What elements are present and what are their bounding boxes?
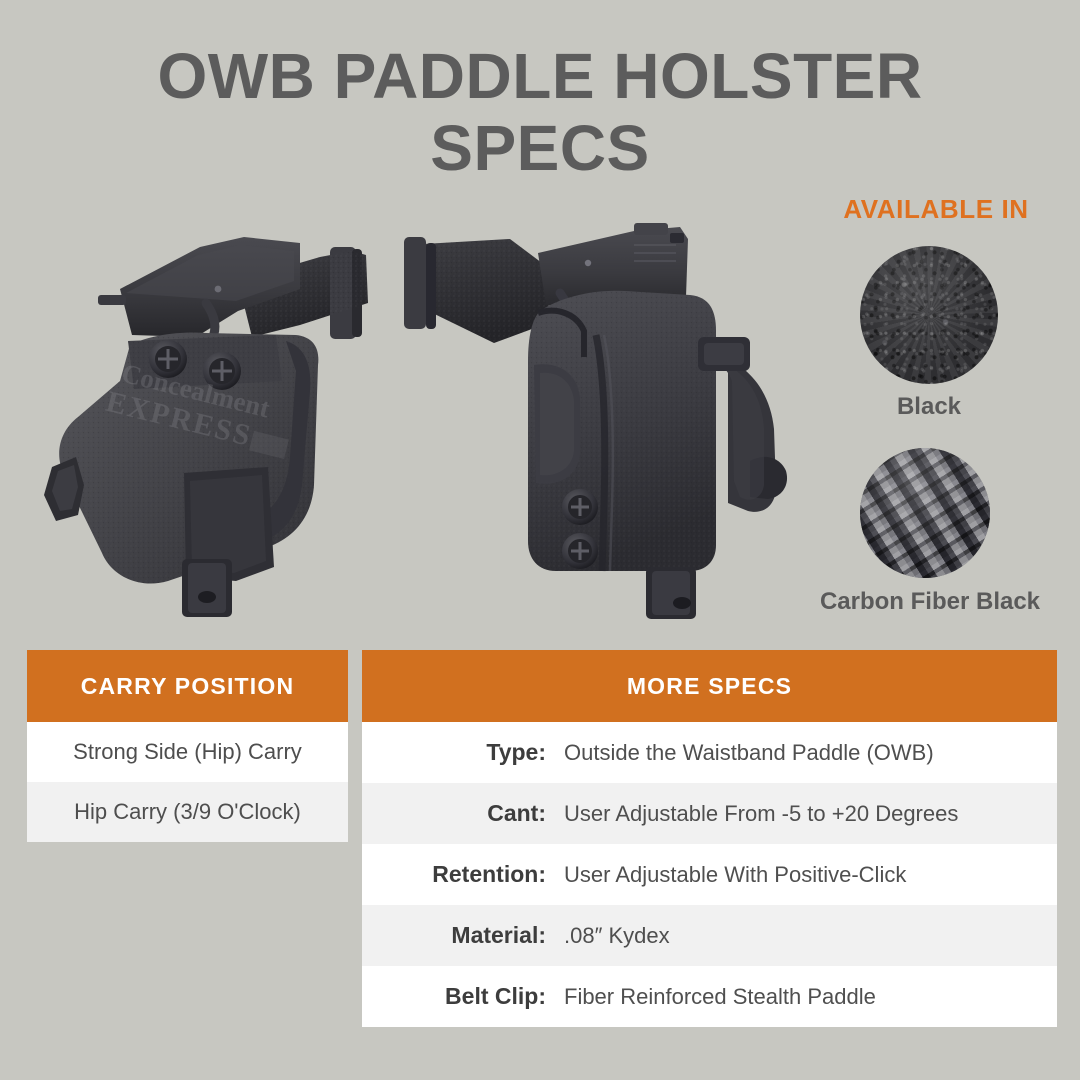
page-title-line1: OWB PADDLE HOLSTER [157, 40, 922, 112]
more-specs-table: MORE SPECS Type: Outside the Waistband P… [362, 650, 1057, 1027]
page-title: OWB PADDLE HOLSTER SPECS [0, 44, 1080, 180]
table-row: Cant: User Adjustable From -5 to +20 Deg… [362, 783, 1057, 844]
carry-position-table: CARRY POSITION Strong Side (Hip) Carry H… [27, 650, 348, 842]
table-row: Retention: User Adjustable With Positive… [362, 844, 1057, 905]
spec-key: Type: [362, 739, 554, 766]
retention-screw-4 [562, 533, 598, 569]
spec-value: .08″ Kydex [554, 923, 1057, 949]
table-row: Type: Outside the Waistband Paddle (OWB) [362, 722, 1057, 783]
available-in-heading: AVAILABLE IN [812, 194, 1060, 225]
table-row: Strong Side (Hip) Carry [27, 722, 348, 782]
spec-key: Cant: [362, 800, 554, 827]
more-specs-header: MORE SPECS [362, 650, 1057, 722]
spec-value: Outside the Waistband Paddle (OWB) [554, 740, 1057, 766]
table-row: Material: .08″ Kydex [362, 905, 1057, 966]
spec-key: Retention: [362, 861, 554, 888]
holster-left-view: Concealment EXPRESS [44, 237, 368, 617]
carry-position-header: CARRY POSITION [27, 650, 348, 722]
swatch-carbon-gloss [860, 448, 990, 578]
carry-position-value: Hip Carry (3/9 O'Clock) [74, 799, 301, 825]
retention-screw-3 [562, 489, 598, 525]
table-row: Belt Clip: Fiber Reinforced Stealth Padd… [362, 966, 1057, 1027]
holster-right-view [404, 223, 787, 619]
holster-illustration: Concealment EXPRESS [0, 185, 820, 635]
spec-value: User Adjustable From -5 to +20 Degrees [554, 801, 1057, 827]
spec-key: Material: [362, 922, 554, 949]
spec-key: Belt Clip: [362, 983, 554, 1010]
swatch-carbon-fiber-black[interactable] [860, 448, 990, 578]
swatch-black-label: Black [849, 393, 1009, 421]
holster-product-images: Concealment EXPRESS [0, 185, 820, 635]
swatch-black-sheen [860, 246, 998, 384]
carry-position-value: Strong Side (Hip) Carry [73, 739, 302, 765]
spec-value: User Adjustable With Positive-Click [554, 862, 1057, 888]
spec-value: Fiber Reinforced Stealth Paddle [554, 984, 1057, 1010]
page-title-line2: SPECS [0, 116, 1080, 180]
swatch-carbon-fiber-black-label: Carbon Fiber Black [790, 588, 1070, 616]
infographic-page: OWB PADDLE HOLSTER SPECS [0, 0, 1080, 1080]
swatch-black[interactable] [860, 246, 998, 384]
table-row: Hip Carry (3/9 O'Clock) [27, 782, 348, 842]
